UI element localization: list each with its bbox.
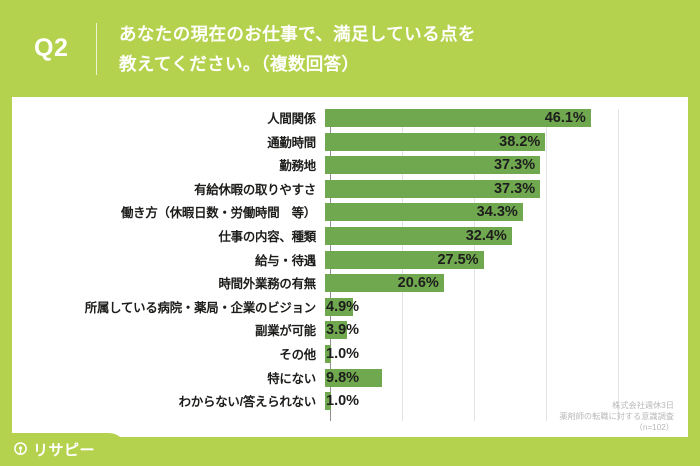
category-label: 通勤時間 [12,133,324,151]
bar-container: 38.2% [324,131,688,153]
chart-row: 副業が可能3.9% [12,319,688,341]
bar-container: 1.0% [324,343,688,365]
category-label: 時間外業務の有無 [12,274,324,292]
bar-container: 4.9% [324,296,688,318]
category-label: 勤務地 [12,156,324,174]
chart-row: 勤務地37.3% [12,154,688,176]
bar-value-label: 1.0% [326,390,359,412]
chart-row: 時間外業務の有無20.6% [12,272,688,294]
bar-value-label: 38.2% [490,131,540,153]
bar-value-label: 46.1% [536,107,586,129]
brand-logo-text: リサピー [33,439,95,460]
footnote-company: 株式会社週休3日 [559,400,674,411]
category-label: 所属している病院・薬局・企業のビジョン [12,298,324,316]
bar-chart: 人間関係46.1%通勤時間38.2%勤務地37.3%有給休暇の取りやすさ37.3… [12,97,688,437]
chart-row: 特にない9.8% [12,367,688,389]
bar-value-label: 9.8% [326,367,359,389]
bar-value-label: 37.3% [485,178,535,200]
chart-row: 人間関係46.1% [12,107,688,129]
bar-container: 9.8% [324,367,688,389]
question-title-line-2: 教えてください。（複数回答） [119,49,476,79]
category-label: 人間関係 [12,109,324,127]
chart-row: 有給休暇の取りやすさ37.3% [12,178,688,200]
chart-row: 所属している病院・薬局・企業のビジョン4.9% [12,296,688,318]
bar-value-label: 37.3% [485,154,535,176]
bar-value-label: 27.5% [429,249,479,271]
bar-container: 27.5% [324,249,688,271]
bar-container: 32.4% [324,225,688,247]
chart-rows: 人間関係46.1%通勤時間38.2%勤務地37.3%有給休暇の取りやすさ37.3… [12,97,688,437]
category-label: 副業が可能 [12,321,324,339]
brand-logo[interactable]: リサピー [0,433,126,466]
bar-value-label: 32.4% [457,225,507,247]
category-label: 働き方（休暇日数・労働時間 等） [12,203,324,221]
bar-container: 37.3% [324,178,688,200]
category-label: わからない/答えられない [12,392,324,410]
chart-row: 通勤時間38.2% [12,131,688,153]
bar-container: 34.3% [324,201,688,223]
footnote-sample-size: （n=102） [559,422,674,433]
bar-container: 3.9% [324,319,688,341]
bar-value-label: 34.3% [468,201,518,223]
chart-row: 働き方（休暇日数・労働時間 等）34.3% [12,201,688,223]
chart-row: その他1.0% [12,343,688,365]
bar-container: 20.6% [324,272,688,294]
category-label: その他 [12,345,324,363]
chart-card: 人間関係46.1%通勤時間38.2%勤務地37.3%有給休暇の取りやすさ37.3… [12,97,688,437]
category-label: 特にない [12,369,324,387]
category-label: 仕事の内容、種類 [12,227,324,245]
bar-value-label: 4.9% [326,296,359,318]
question-number: Q2 [34,34,96,63]
bar-value-label: 1.0% [326,343,359,365]
magnifier-icon [13,442,28,457]
bar-value-label: 20.6% [389,272,439,294]
category-label: 有給休暇の取りやすさ [12,180,324,198]
bar-container: 37.3% [324,154,688,176]
chart-row: 仕事の内容、種類32.4% [12,225,688,247]
header-divider [96,23,97,75]
question-title-line-1: あなたの現在のお仕事で、満足している点を [119,19,476,49]
category-label: 給与・待遇 [12,251,324,269]
chart-row: 給与・待遇27.5% [12,249,688,271]
question-header: Q2 あなたの現在のお仕事で、満足している点を 教えてください。（複数回答） [0,0,700,97]
footnote: 株式会社週休3日 薬剤師の転職に対する意識調査 （n=102） [559,400,674,433]
footnote-survey: 薬剤師の転職に対する意識調査 [559,411,674,422]
bar-container: 46.1% [324,107,688,129]
bar-value-label: 3.9% [326,319,359,341]
question-title: あなたの現在のお仕事で、満足している点を 教えてください。（複数回答） [119,19,476,79]
